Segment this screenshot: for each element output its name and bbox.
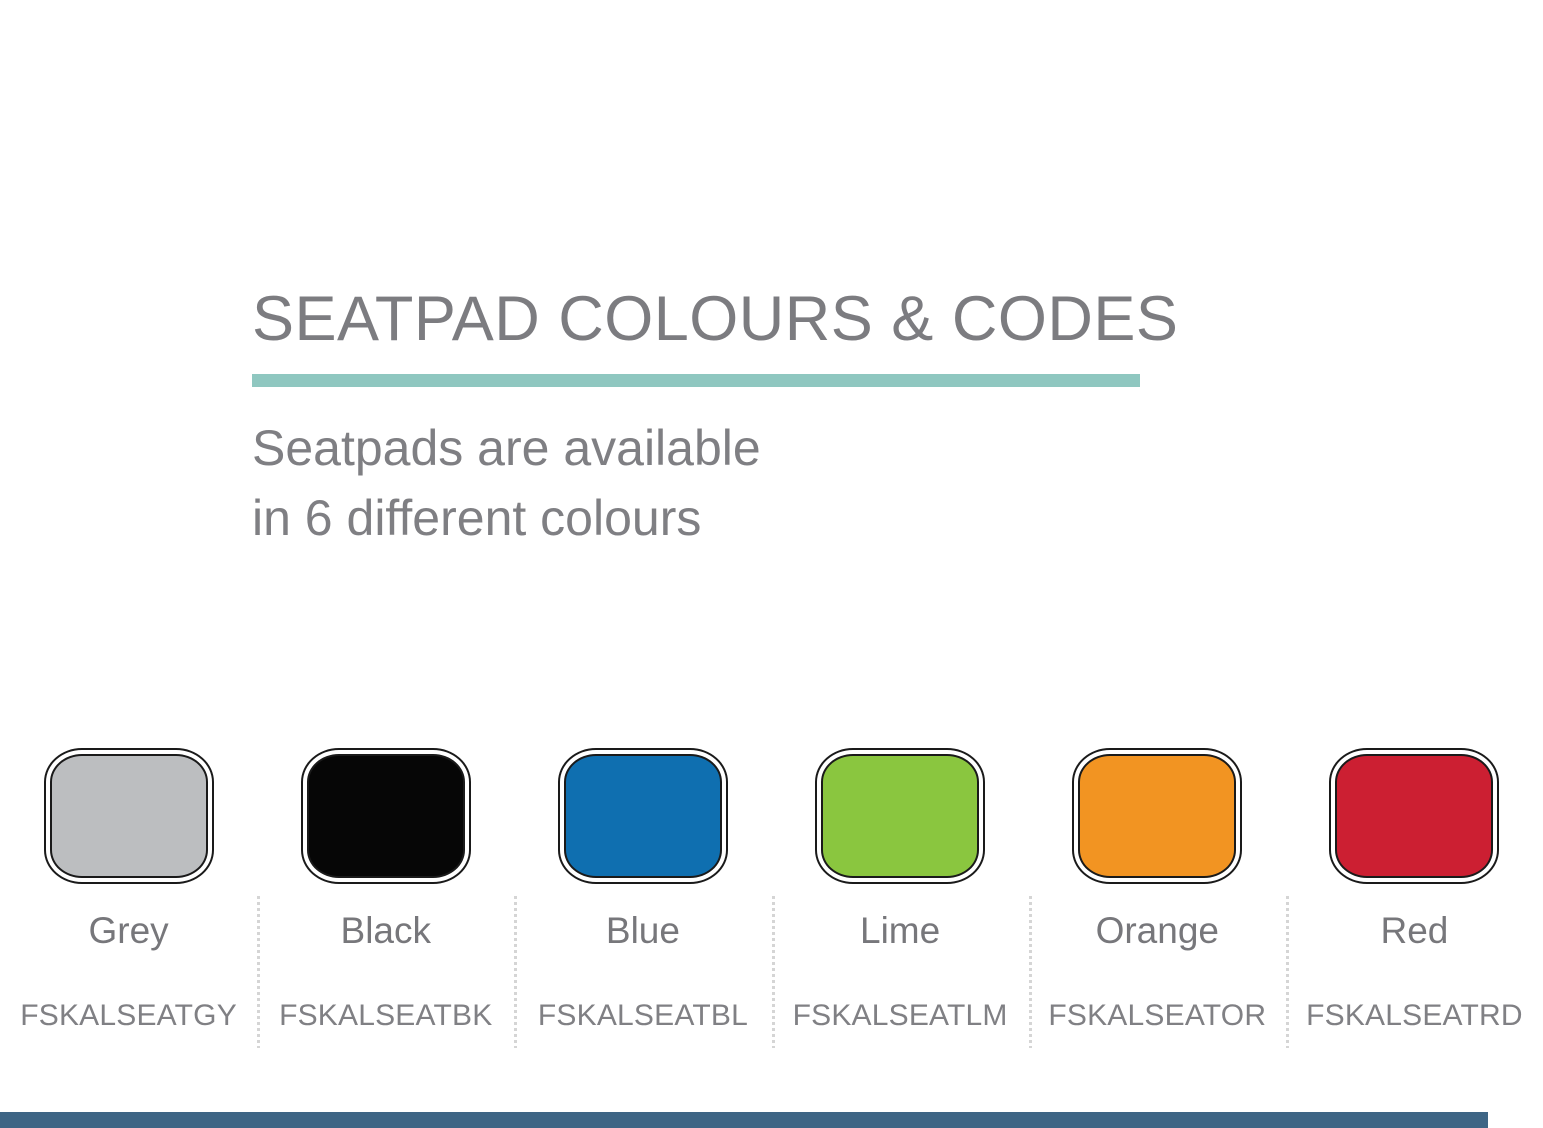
seatpad-swatch-blue[interactable] (558, 748, 728, 884)
subtitle: Seatpads are available in 6 different co… (252, 413, 1252, 553)
seatpad-swatch-lime[interactable] (815, 748, 985, 884)
colour-code-red: FSKALSEATRD (1306, 1001, 1523, 1031)
footer-accent-bar (0, 1112, 1488, 1128)
colour-code-lime: FSKALSEATLM (793, 1001, 1008, 1031)
seatpad-fill-grey (50, 754, 208, 878)
header-block: SEATPAD COLOURS & CODES Seatpads are ava… (252, 286, 1252, 553)
seatpad-swatch-grey[interactable] (44, 748, 214, 884)
colour-code-grey: FSKALSEATGY (20, 1001, 237, 1031)
colour-name-orange: Orange (1096, 912, 1219, 949)
colour-name-blue: Blue (606, 912, 680, 949)
colour-code-black: FSKALSEATBK (279, 1001, 492, 1031)
colour-name-grey: Grey (88, 912, 168, 949)
colour-name-black: Black (341, 912, 431, 949)
seatpad-fill-black (307, 754, 465, 878)
colour-name-lime: Lime (860, 912, 940, 949)
colour-code-orange: FSKALSEATOR (1048, 1001, 1266, 1031)
subtitle-line-2: in 6 different colours (252, 483, 1252, 553)
seatpad-fill-blue (564, 754, 722, 878)
swatch-column-blue[interactable]: Blue FSKALSEATBL (514, 748, 771, 1031)
title-divider-rule (252, 374, 1140, 387)
subtitle-line-1: Seatpads are available (252, 413, 1252, 483)
seatpad-swatch-orange[interactable] (1072, 748, 1242, 884)
colour-name-red: Red (1381, 912, 1449, 949)
seatpad-swatch-black[interactable] (301, 748, 471, 884)
swatch-column-orange[interactable]: Orange FSKALSEATOR (1029, 748, 1286, 1031)
swatch-column-grey[interactable]: Grey FSKALSEATGY (0, 748, 257, 1031)
swatch-column-lime[interactable]: Lime FSKALSEATLM (772, 748, 1029, 1031)
page-title: SEATPAD COLOURS & CODES (252, 286, 1252, 352)
swatch-column-black[interactable]: Black FSKALSEATBK (257, 748, 514, 1031)
seatpad-colour-grid: Grey FSKALSEATGY Black FSKALSEATBK Blue … (0, 748, 1543, 1031)
colour-code-blue: FSKALSEATBL (538, 1001, 748, 1031)
swatch-column-red[interactable]: Red FSKALSEATRD (1286, 748, 1543, 1031)
seatpad-fill-orange (1078, 754, 1236, 878)
seatpad-fill-red (1335, 754, 1493, 878)
seatpad-fill-lime (821, 754, 979, 878)
seatpad-swatch-red[interactable] (1329, 748, 1499, 884)
